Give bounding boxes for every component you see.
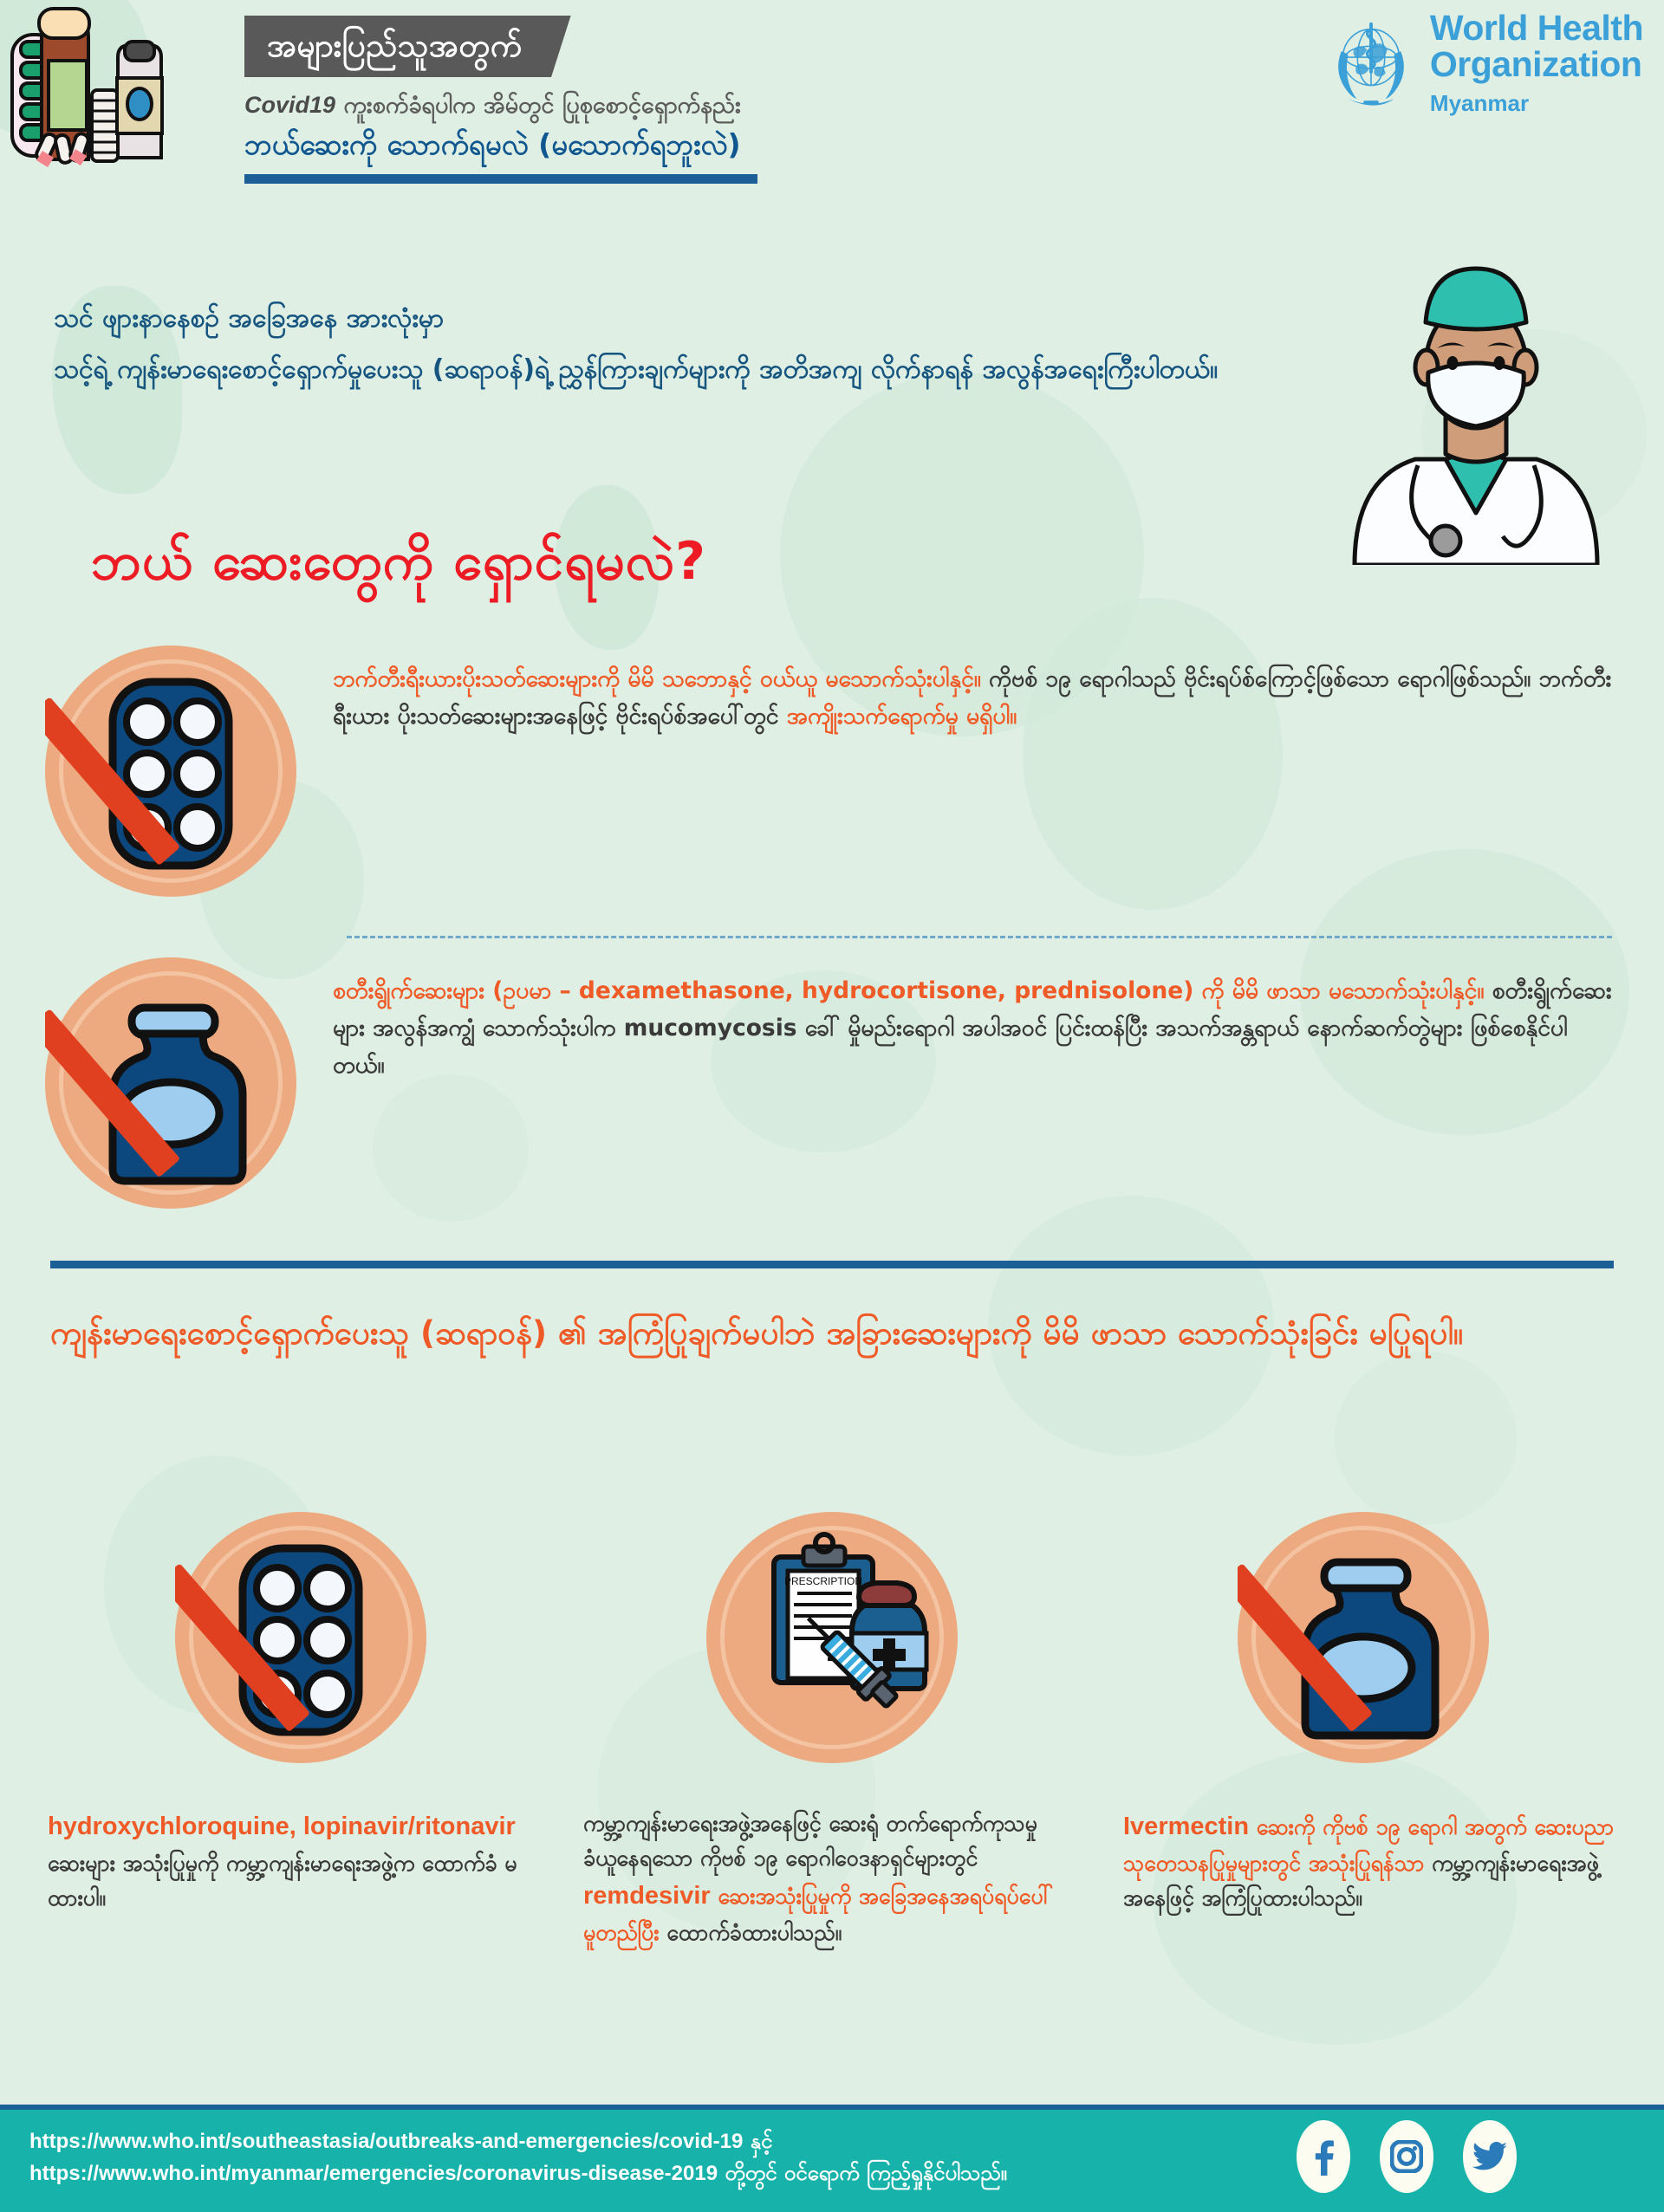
twitter-icon[interactable] xyxy=(1463,2120,1517,2193)
column2-text: ကမ္ဘာ့ကျန်းမာရေးအဖွဲ့အနေဖြင့် ဆေးရုံ တက်… xyxy=(566,1807,1097,1950)
instagram-icon[interactable] xyxy=(1380,2120,1433,2193)
who-country: Myanmar xyxy=(1430,92,1643,115)
footer: https://www.who.int/southeastasia/outbre… xyxy=(0,2105,1664,2212)
prescription-syringe-icon: PRESCRIPTION xyxy=(706,1512,958,1763)
warning-row-steroids: စတီးရွိုက်ဆေးများ (ဥပမာ – dexamethasone,… xyxy=(45,957,1614,1209)
steroids-text: စတီးရွိုက်ဆေးများ (ဥပမာ – dexamethasone,… xyxy=(296,957,1614,1085)
column2-pre: ကမ္ဘာ့ကျန်းမာရေးအဖွဲ့အနေဖြင့် ဆေးရုံ တက်… xyxy=(583,1811,1037,1871)
column-remdesivir: PRESCRIPTION xyxy=(566,1512,1097,1950)
facebook-icon[interactable] xyxy=(1297,2120,1350,2193)
social-links xyxy=(1297,2120,1517,2193)
title-block: အများပြည်သူအတွက် Covid19 ကူးစက်ခံရပါက အိ… xyxy=(244,16,1189,184)
column-hydroxychloroquine: hydroxychloroquine, lopinavir/ritonavir … xyxy=(35,1512,566,1950)
intro-line-2: သင့်ရဲ့ ကျန်းမာရေးစောင့်ရှောက်မှုပေးသူ (… xyxy=(54,350,1293,391)
page-title: ဘယ်ဆေးကို သောက်ရမလဲ (မသောက်ရဘူးလဲ) xyxy=(244,126,1189,164)
column2-post: ထောက်ခံထားပါသည်။ xyxy=(660,1920,842,1945)
footer-url-2-suffix: တို့တွင် ဝင်ရောက် ကြည့်ရှုနိုင်ပါသည်။ xyxy=(718,2161,1007,2185)
question-heading: ဘယ် ဆေးတွေကို ရှောင်ရမလဲ? xyxy=(91,529,706,605)
prescription-label: PRESCRIPTION xyxy=(783,1575,861,1587)
column-ivermectin: Ivermectin ဆေးကို ကိုဗစ် ၁၉ ရောဂါ အတွက် … xyxy=(1097,1512,1628,1950)
drug-columns: hydroxychloroquine, lopinavir/ritonavir … xyxy=(35,1512,1629,1950)
column3-drug: Ivermectin xyxy=(1123,1813,1249,1840)
who-emblem-icon xyxy=(1324,10,1418,113)
dashed-divider xyxy=(347,936,1612,938)
who-logo: World Health Organization Myanmar xyxy=(1324,10,1643,114)
no-medicine-bottle-icon xyxy=(1238,1512,1489,1763)
footer-url-2[interactable]: https://www.who.int/myanmar/emergencies/… xyxy=(29,2162,718,2185)
who-line1: World Health xyxy=(1430,10,1643,47)
intro-line-1: သင် ဖျားနာနေစဉ် အခြေအနေ အားလုံးမှာ xyxy=(54,299,1293,338)
antibiotics-text: ဘက်တီးရီးယားပိုးသတ်ဆေးများကို မိမိ သဘောန… xyxy=(296,645,1614,736)
warning-row-antibiotics: ဘက်တီးရီးယားပိုးသတ်ဆေးများကို မိမိ သဘောန… xyxy=(45,645,1614,897)
column1-text: hydroxychloroquine, lopinavir/ritonavir … xyxy=(35,1807,566,1916)
footer-url-1-suffix: နှင့် xyxy=(743,2129,772,2153)
section-divider xyxy=(50,1261,1614,1268)
no-medicine-bottle-icon xyxy=(45,957,296,1209)
subtitle: Covid19 ကူးစက်ခံရပါက အိမ်တွင် ပြုစုစောင့… xyxy=(244,89,1189,121)
footer-line-2: https://www.who.int/myanmar/emergencies/… xyxy=(29,2157,1007,2189)
footer-links: https://www.who.int/southeastasia/outbre… xyxy=(29,2125,1007,2189)
no-pill-blister-icon xyxy=(45,645,296,897)
medicine-illustration xyxy=(7,3,241,168)
footer-url-1[interactable]: https://www.who.int/southeastasia/outbre… xyxy=(29,2130,743,2153)
column3-text: Ivermectin ဆေးကို ကိုဗစ် ၁၉ ရောဂါ အတွက် … xyxy=(1097,1807,1628,1916)
antibiotics-seg3: အကျိုးသက်ရောက်မှု မရှိပါ။ xyxy=(787,703,1017,730)
subtitle-rest: ကူးစက်ခံရပါက အိမ်တွင် ပြုစုစောင့်ရှောက်န… xyxy=(335,92,741,119)
who-line2: Organization xyxy=(1430,47,1643,83)
column1-body: ဆေးများ အသုံးပြုမှုကို ကမ္ဘာ့ကျန်းမာရေးအ… xyxy=(48,1851,517,1910)
who-wordmark: World Health Organization Myanmar xyxy=(1430,10,1643,114)
footer-line-1: https://www.who.int/southeastasia/outbre… xyxy=(29,2125,1007,2157)
column2-drug: remdesivir xyxy=(583,1882,711,1910)
steroids-seg1: စတီးရွိုက်ဆေးများ (ဥပမာ – dexamethasone,… xyxy=(333,977,1484,1004)
header: အများပြည်သူအတွက် Covid19 ကူးစက်ခံရပါက အိ… xyxy=(0,0,1664,286)
covid-label: Covid19 xyxy=(244,92,335,118)
infographic-page: အများပြည်သူအတွက် Covid19 ကူးစက်ခံရပါက အိ… xyxy=(0,0,1664,2212)
title-underline xyxy=(244,174,757,184)
audience-badge: အများပြည်သူအတွက် xyxy=(244,16,571,77)
antibiotics-seg1: ဘက်တီးရီးယားပိုးသတ်ဆေးများကို မိမိ သဘောန… xyxy=(333,665,981,692)
column1-drug: hydroxychloroquine, lopinavir/ritonavir xyxy=(48,1813,516,1840)
no-pill-blister-icon xyxy=(175,1512,426,1763)
intro-text: သင် ဖျားနာနေစဉ် အခြေအနေ အားလုံးမှာ သင့်ရ… xyxy=(54,299,1293,391)
mid-section-heading: ကျန်းမာရေးစောင့်ရှောက်ပေးသူ (ဆရာဝန်) ၏ အ… xyxy=(50,1308,1619,1358)
